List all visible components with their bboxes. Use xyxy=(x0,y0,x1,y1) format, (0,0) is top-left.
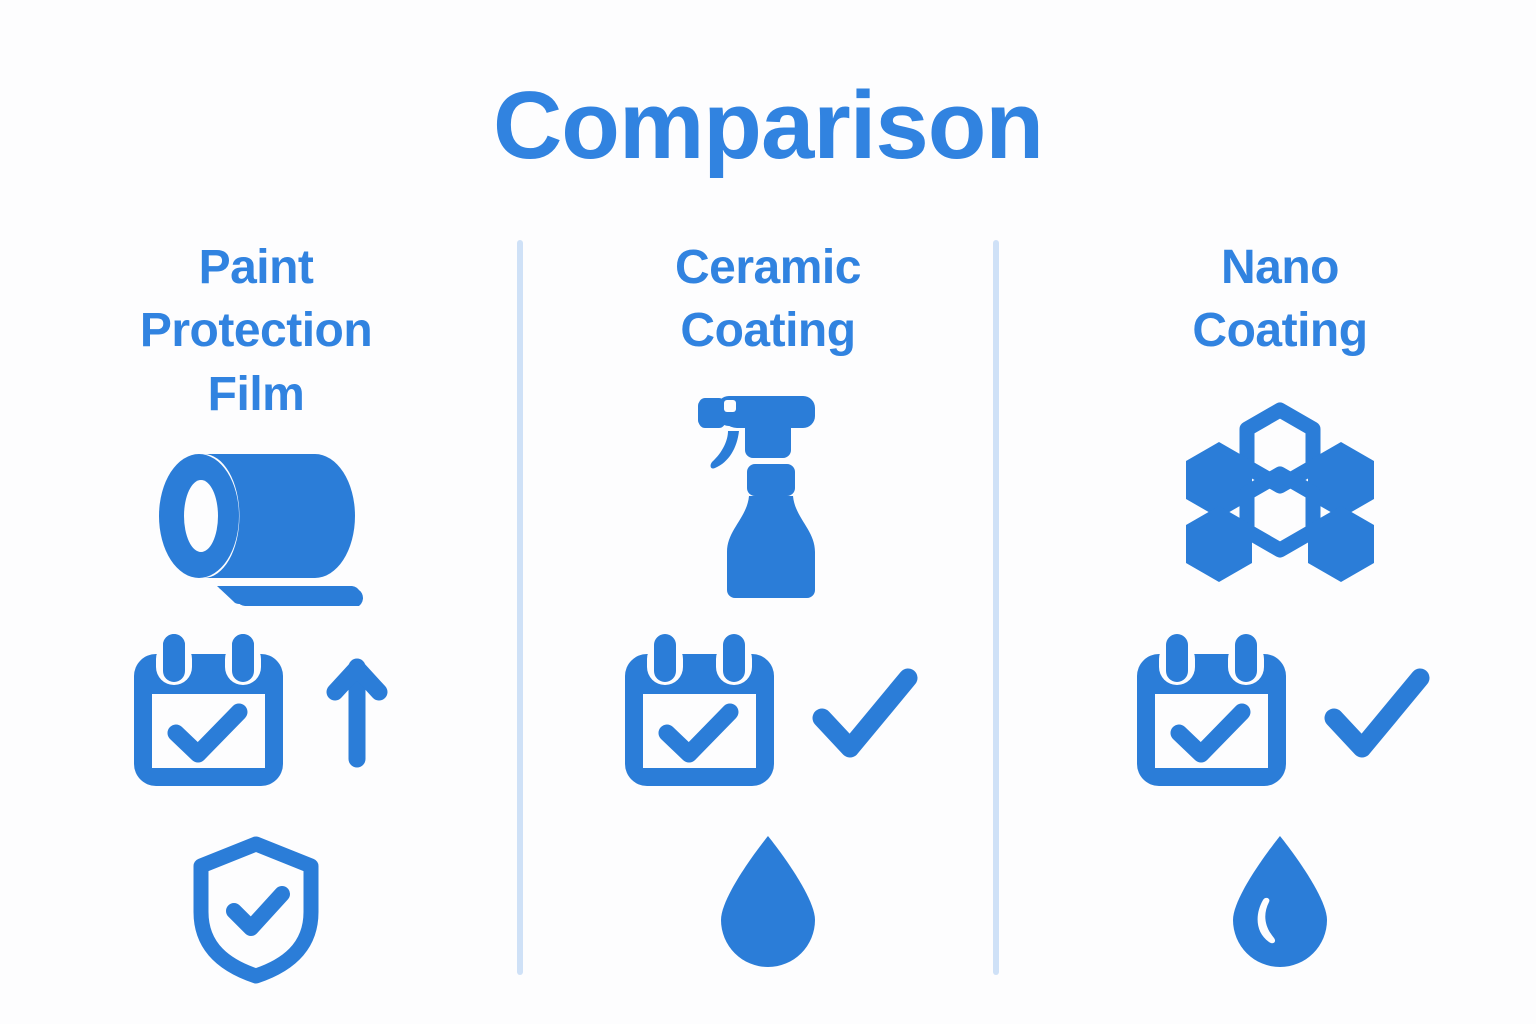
arrow-up-icon xyxy=(327,657,387,769)
water-drop-highlight-icon xyxy=(1225,832,1335,966)
comparison-columns: Paint Protection Film xyxy=(0,236,1536,996)
product-icon-group-nano xyxy=(1024,404,1536,590)
calendar-check-icon xyxy=(126,632,291,794)
duration-icon-group-ppf xyxy=(0,632,512,794)
column-nano-coating: Nano Coating xyxy=(1024,236,1536,996)
benefit-icon-group-ppf xyxy=(0,836,512,982)
column-heading-ceramic-coating: Ceramic Coating xyxy=(675,236,861,363)
water-drop-icon xyxy=(713,832,823,966)
column-heading-nano-coating: Nano Coating xyxy=(1192,236,1367,363)
calendar-check-icon xyxy=(1129,632,1294,794)
calendar-check-icon xyxy=(617,632,782,794)
column-heading-paint-protection-film: Paint Protection Film xyxy=(140,236,372,426)
page-title: Comparison xyxy=(0,76,1536,177)
check-mark-icon xyxy=(1322,660,1432,766)
film-roll-icon xyxy=(147,436,365,606)
column-ceramic-coating: Ceramic Coating xyxy=(512,236,1024,996)
duration-icon-group-nano xyxy=(1024,632,1536,794)
column-paint-protection-film: Paint Protection Film xyxy=(0,236,512,996)
duration-icon-group-ceramic xyxy=(512,632,1024,794)
check-mark-icon xyxy=(810,660,920,766)
hexagon-cluster-icon xyxy=(1182,404,1378,590)
benefit-icon-group-nano xyxy=(1024,832,1536,966)
shield-check-icon xyxy=(190,836,322,982)
product-icon-group-ceramic xyxy=(512,386,1024,601)
benefit-icon-group-ceramic xyxy=(512,832,1024,966)
product-icon-group-ppf xyxy=(0,436,512,606)
comparison-infographic: Comparison Paint Protection Film xyxy=(0,0,1536,1024)
spray-bottle-icon xyxy=(693,386,843,601)
